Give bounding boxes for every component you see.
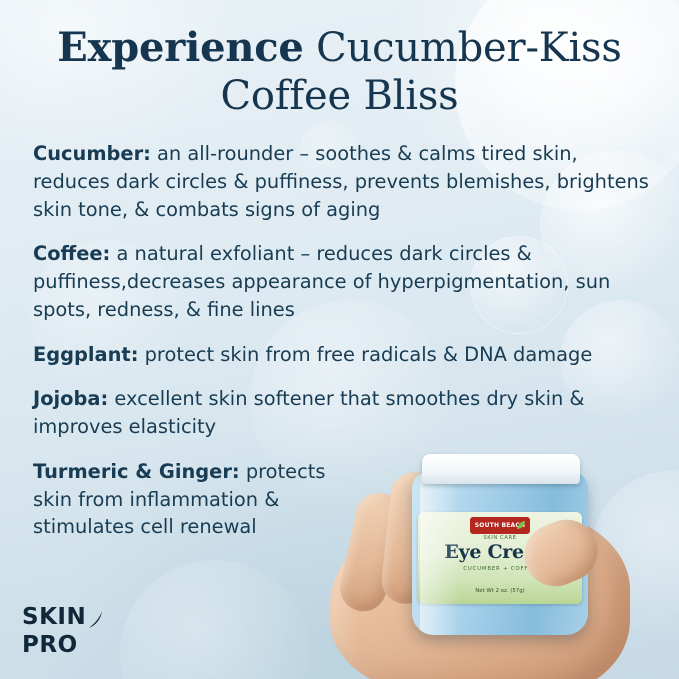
water-bubble-icon (120, 560, 310, 679)
brand-logo-line1: SKIN (22, 606, 86, 629)
product-label-title-line1: Eye (444, 541, 481, 563)
brand-logo-line2: PRO (22, 634, 104, 657)
headline-emphasis: Experience (57, 24, 303, 71)
benefit-description: excellent skin softener that smoothes dr… (33, 387, 585, 438)
benefit-description: a natural exfoliant – reduces dark circl… (33, 242, 610, 321)
benefit-ingredient-label: Cucumber: (33, 142, 151, 165)
brand-logo-line1-row: SKIN (22, 606, 104, 629)
headline-line1-rest: Cucumber-Kiss (304, 25, 622, 71)
benefit-description: protect skin from free radicals & DNA da… (138, 343, 592, 366)
swoosh-icon (88, 611, 104, 629)
benefit-ingredient-label: Eggplant: (33, 343, 138, 366)
benefit-item-coffee: Coffee: a natural exfoliant – reduces da… (33, 240, 651, 323)
page-title: Experience Cucumber-Kiss Coffee Bliss (0, 24, 679, 120)
benefit-ingredient-label: Turmeric & Ginger: (33, 460, 240, 483)
benefit-item-cucumber: Cucumber: an all-rounder – soothes & cal… (33, 140, 651, 223)
product-photo: SOUTH BEACH SKIN CARE Eye Cream CUCUMBER… (318, 452, 679, 679)
benefit-ingredient-label: Coffee: (33, 242, 110, 265)
jar-lid (422, 454, 580, 484)
benefit-item-jojoba: Jojoba: excellent skin softener that smo… (33, 385, 651, 441)
product-infographic-page: Experience Cucumber-Kiss Coffee Bliss Cu… (0, 0, 679, 679)
benefit-ingredient-label: Jojoba: (33, 387, 108, 410)
brand-badge: SOUTH BEACH (470, 517, 530, 534)
leaf-icon (516, 520, 526, 530)
headline-line2: Coffee Bliss (221, 73, 459, 119)
benefit-item-turmeric-ginger: Turmeric & Ginger: protects skin from in… (33, 458, 363, 541)
brand-logo: SKIN PRO (22, 606, 104, 657)
benefit-item-eggplant: Eggplant: protect skin from free radical… (33, 341, 651, 369)
product-net-weight: Net Wt 2 oz. (57g) (418, 588, 582, 594)
